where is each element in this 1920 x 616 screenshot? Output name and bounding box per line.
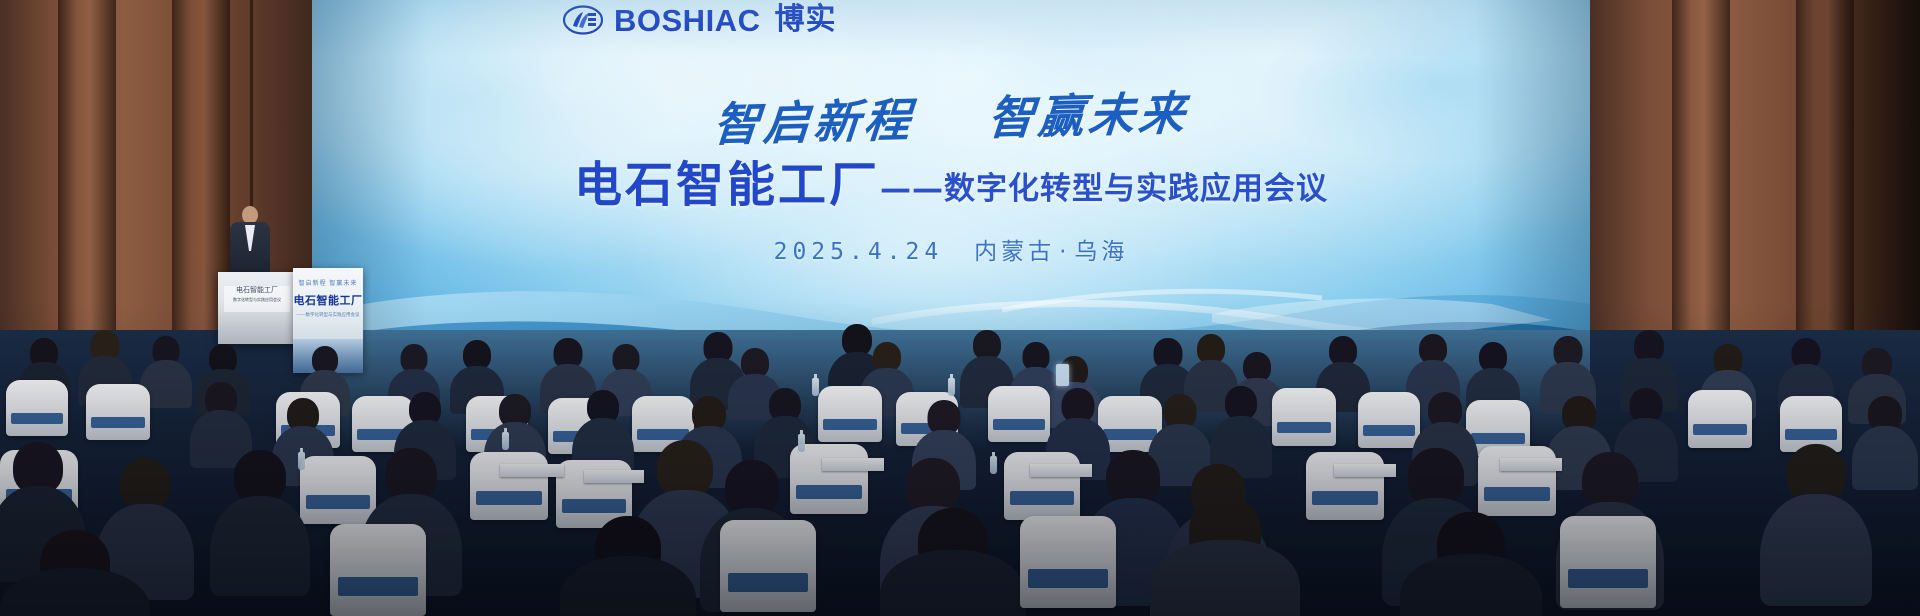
name-card	[1334, 464, 1396, 477]
head	[120, 458, 170, 510]
water-bottle	[812, 378, 819, 396]
chair-band	[1568, 569, 1649, 587]
chair	[1020, 516, 1116, 608]
chair-band	[91, 417, 145, 428]
chair-band	[338, 577, 419, 595]
chair-band	[1277, 422, 1331, 434]
chair-band	[1484, 487, 1550, 501]
chair	[86, 384, 150, 440]
audience-member-foreground	[560, 516, 696, 616]
audience-member-foreground	[1150, 496, 1300, 616]
chair	[1688, 390, 1752, 448]
water-bottle	[948, 378, 955, 396]
chair-band	[993, 419, 1045, 430]
audience-member-front	[210, 450, 310, 596]
shoulders	[1760, 494, 1872, 606]
name-card	[1030, 464, 1092, 477]
water-bottle	[798, 434, 805, 452]
chair-band	[1471, 433, 1525, 444]
chair-band	[562, 499, 626, 513]
chair-band	[796, 485, 862, 499]
chair	[988, 386, 1050, 442]
chair-band	[1028, 569, 1109, 587]
chair	[818, 386, 882, 442]
shoulders	[1400, 554, 1542, 616]
speaker-at-podium	[228, 206, 272, 276]
name-card	[500, 464, 564, 477]
chair	[720, 520, 816, 612]
shoulders	[0, 568, 150, 616]
smartphone-screen	[1056, 364, 1069, 386]
audience-member-foreground	[0, 530, 150, 616]
name-card	[584, 470, 644, 483]
shoulders	[210, 496, 310, 596]
conference-photo: BOSHIAC 博实 智启新程 智赢未来 电石智能工厂——数字化转型与实践应用会…	[0, 0, 1920, 616]
water-bottle	[502, 432, 509, 450]
chair	[1272, 388, 1336, 446]
chair	[1306, 452, 1384, 520]
chair	[330, 524, 426, 616]
name-card	[1500, 458, 1562, 471]
water-bottle	[990, 456, 997, 474]
audience-area	[0, 300, 1920, 616]
chair-band	[728, 573, 809, 591]
chair	[6, 380, 68, 436]
chair-band	[1010, 491, 1074, 505]
chair-band	[1693, 424, 1747, 436]
shoulders	[560, 556, 696, 616]
banner-tagline: 智启新程 智赢未来	[293, 278, 363, 287]
chair-band	[1312, 491, 1378, 505]
podium-sign-line1: 电石智能工厂	[224, 286, 290, 297]
name-card	[822, 458, 884, 471]
audience-member-front	[1760, 444, 1872, 606]
chair-band	[1785, 429, 1837, 440]
shoulders	[1150, 540, 1300, 616]
water-bottle	[298, 452, 305, 470]
chair-band	[823, 419, 877, 430]
shoulders	[880, 550, 1026, 616]
chair-band	[476, 491, 542, 505]
audience-member-foreground	[880, 508, 1026, 616]
chair	[1560, 516, 1656, 608]
audience-member-foreground	[1400, 512, 1542, 616]
chair-band	[11, 413, 63, 424]
chair-band	[1363, 425, 1415, 436]
chair	[470, 452, 548, 520]
chair	[1358, 392, 1420, 448]
head	[1225, 386, 1257, 420]
